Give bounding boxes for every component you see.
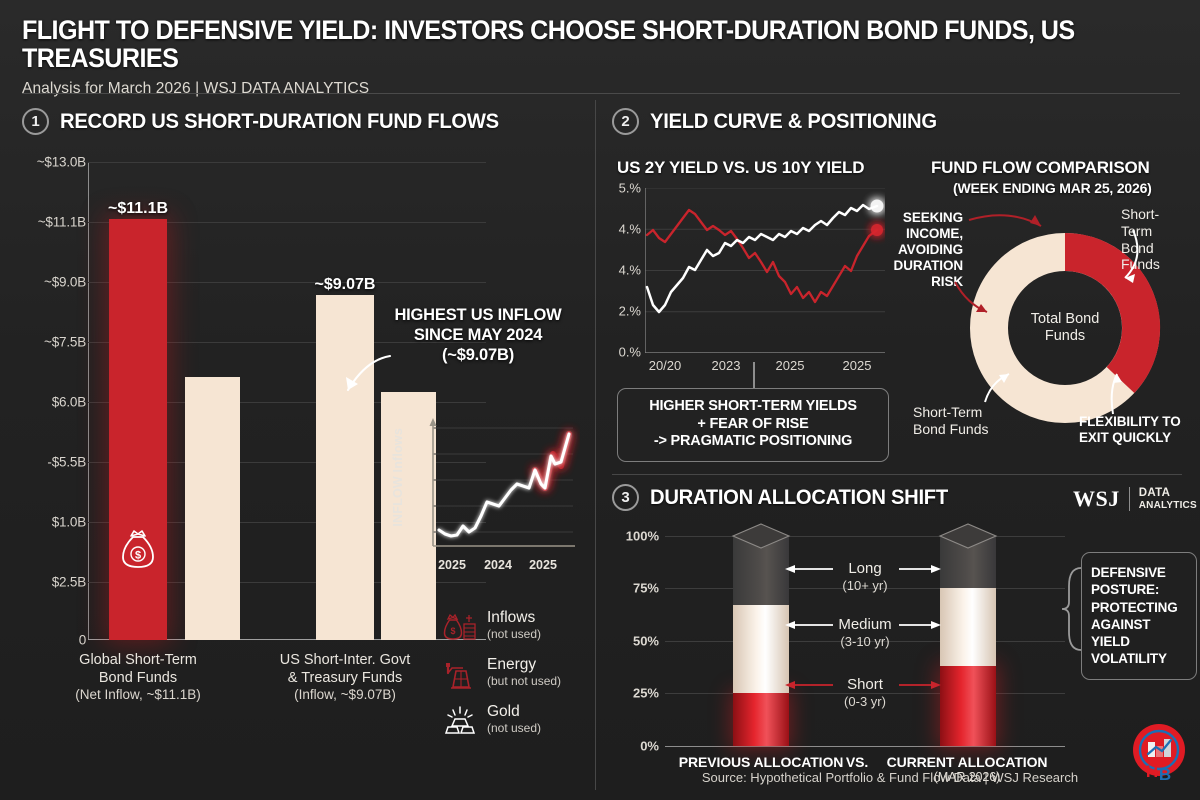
caption-vs: VS. xyxy=(846,754,868,770)
panel2-header: 2 YIELD CURVE & POSITIONING xyxy=(612,108,955,135)
legend-item-inflows: $ Inflows (not used) xyxy=(443,610,593,644)
inset-xtick: 2024 xyxy=(484,558,512,572)
yield-curve-svg xyxy=(645,188,885,353)
oil-pump-icon xyxy=(443,657,477,691)
page-subtitle: Analysis for March 2026 | WSJ DATA ANALY… xyxy=(22,80,1147,98)
legend-item-gold: Gold (not used) xyxy=(443,704,593,738)
header: FLIGHT TO DEFENSIVE YIELD: INVESTORS CHO… xyxy=(22,16,1182,98)
source-note: Source: Hypothetical Portfolio & Fund Fl… xyxy=(600,770,1180,785)
bar-value-label: ~$11.1B xyxy=(108,200,168,218)
legend-note: (not used) xyxy=(487,627,541,641)
page-title: FLIGHT TO DEFENSIVE YIELD: INVESTORS CHO… xyxy=(22,16,1101,72)
legend-text: Inflows (not used) xyxy=(487,610,541,641)
panel3-number-badge: 3 xyxy=(612,484,639,511)
yc-xtick: 2023 xyxy=(712,358,741,373)
money-bag-icon: $ xyxy=(443,610,477,644)
donut-label-seeking-income: SEEKINGINCOME,AVOIDINGDURATIONRISK xyxy=(879,210,963,290)
inset-xtick: 2025 xyxy=(438,558,466,572)
logo-divider xyxy=(1129,487,1130,511)
panel1-ytick: ~$13.0B xyxy=(10,155,86,170)
wsj-logo-panel3: WSJ DATA ANALYTICS xyxy=(1073,486,1197,512)
legend-item-energy: Energy (but not used) xyxy=(443,657,593,691)
legend-label: Gold xyxy=(487,704,541,720)
panel2-title: YIELD CURVE & POSITIONING xyxy=(650,109,937,134)
donut-title: FUND FLOW COMPARISON xyxy=(931,158,1150,178)
svg-text:H: H xyxy=(1146,762,1158,781)
panel1-title: RECORD US SHORT-DURATION FUND FLOWS xyxy=(60,109,499,134)
category-label-global: Global Short-Term Bond Funds (Net Inflow… xyxy=(43,652,233,704)
allocation-plot-area: Long (10+ yr) Medium (3-10 yr) Short (0-… xyxy=(665,536,1065,746)
panel1-ytick: 0 xyxy=(10,633,86,648)
legend-text: Energy (but not used) xyxy=(487,657,561,688)
panel2-callout-box: HIGHER SHORT-TERM YIELDS + FEAR OF RISE … xyxy=(617,388,889,462)
svg-text:$: $ xyxy=(135,550,141,562)
wsj-wordmark: WSJ xyxy=(1073,486,1120,512)
gold-bars-icon xyxy=(443,704,477,738)
panel1-ytick: $1.0B xyxy=(10,515,86,530)
al-ytick: 50% xyxy=(611,634,659,649)
bar-global-short-term-primary xyxy=(109,219,167,640)
donut-label-short-term-right: Short-Term Bond Funds xyxy=(1121,206,1187,273)
column-top-face-previous xyxy=(723,523,799,549)
bar-us-treasury-primary xyxy=(316,295,374,640)
svg-text:B: B xyxy=(1159,765,1171,784)
segment-medium-current xyxy=(940,588,996,666)
brace-icon xyxy=(1061,566,1085,652)
yield-chart-title: US 2Y YIELD vs. US 10Y YIELD xyxy=(617,158,864,178)
al-ytick: 25% xyxy=(611,686,659,701)
yc-xtick: 20/20 xyxy=(649,358,682,373)
segment-short-previous xyxy=(733,693,789,746)
header-divider xyxy=(22,93,1180,94)
legend-note: (but not used) xyxy=(487,674,561,688)
yc-ytick: 4.% xyxy=(601,222,641,237)
panel1-ytick: -$5.5B xyxy=(10,455,86,470)
panel1-header: 1 RECORD US SHORT-DURATION FUND FLOWS xyxy=(22,108,527,135)
gridline xyxy=(88,162,486,163)
panel3-header: 3 DURATION ALLOCATION SHIFT xyxy=(612,484,967,511)
band-label-short: Short (0-3 yr) xyxy=(844,676,886,709)
bar-value-label: ~$9.07B xyxy=(315,276,376,294)
yc-ytick: 5.% xyxy=(601,181,641,196)
inset-sparkline-svg xyxy=(395,410,580,570)
yc-xtick: 2025 xyxy=(843,358,872,373)
wsj-logo-sub: DATA ANALYTICS xyxy=(1139,487,1197,511)
callout-stem xyxy=(753,362,755,389)
segment-medium-previous xyxy=(733,605,789,693)
panel1-ytick: ~$11.1B xyxy=(10,215,86,230)
defensive-posture-box: DEFENSIVE POSTURE: PROTECTING AGAINST YI… xyxy=(1081,552,1197,680)
band-label-medium: Medium (3-10 yr) xyxy=(838,616,891,649)
inset-y-axis-label: INFLOW Inflows xyxy=(391,428,405,527)
caption-previous-allocation: PREVIOUS ALLOCATION xyxy=(679,754,844,770)
yc-ytick: 2.% xyxy=(601,304,641,319)
panel2-number-badge: 2 xyxy=(612,108,639,135)
panel3-title: DURATION ALLOCATION SHIFT xyxy=(650,485,948,510)
panel1-number-badge: 1 xyxy=(22,108,49,135)
annotation-arrow-icon xyxy=(332,350,394,402)
legend-text: Gold (not used) xyxy=(487,704,541,735)
inset-sparkline-chart: INFLOW Inflows xyxy=(395,410,580,570)
column-current-allocation xyxy=(940,536,996,746)
money-bag-icon: $ xyxy=(120,528,156,570)
panel1-ytick: $6.0B xyxy=(10,395,86,410)
band-label-long: Long (10+ yr) xyxy=(842,560,887,593)
legend-label: Inflows xyxy=(487,610,541,626)
panel-fund-flows: 1 RECORD US SHORT-DURATION FUND FLOWS ~$… xyxy=(0,100,595,790)
donut-label-short-term-left: Short-Term Bond Funds xyxy=(913,404,989,438)
yc-xtick: 2025 xyxy=(776,358,805,373)
panel-duration-allocation: 3 DURATION ALLOCATION SHIFT WSJ DATA ANA… xyxy=(595,474,1200,790)
panel1-ytick: ~$9.0B xyxy=(10,275,86,290)
x-axis-line xyxy=(665,746,1065,747)
panel1-ytick: ~$7.5B xyxy=(10,335,86,350)
svg-text:$: $ xyxy=(450,626,455,636)
inset-xtick: 2025 xyxy=(529,558,557,572)
column-top-face-current xyxy=(930,523,1006,549)
legend-label: Energy xyxy=(487,657,561,673)
yc-ytick: 4.% xyxy=(601,263,641,278)
segment-short-current xyxy=(940,666,996,746)
hb-watermark-badge: H B xyxy=(1128,722,1190,784)
panel-yield-curve: 2 YIELD CURVE & POSITIONING US 2Y YIELD … xyxy=(595,100,1200,474)
al-ytick: 100% xyxy=(611,529,659,544)
bar-global-short-term-secondary xyxy=(185,377,240,640)
column-previous-allocation xyxy=(733,536,789,746)
panel1-annotation: HIGHEST US INFLOW SINCE MAY 2024 (~$9.07… xyxy=(372,306,584,365)
al-ytick: 75% xyxy=(611,581,659,596)
legend-note: (not used) xyxy=(487,721,541,735)
donut-center-label: Total Bond Funds xyxy=(1010,311,1120,346)
donut-chart-wrap: Total Bond Funds SEEKINGINCOME,AVOIDINGD… xyxy=(917,178,1187,468)
panel1-ytick: $2.5B xyxy=(10,575,86,590)
al-ytick: 0% xyxy=(611,739,659,754)
category-label-us-treasury: US Short-Inter. Govt & Treasury Funds (I… xyxy=(250,652,440,704)
infographic-root: FLIGHT TO DEFENSIVE YIELD: INVESTORS CHO… xyxy=(0,0,1200,800)
panel1-legend: $ Inflows (not used) xyxy=(443,610,593,751)
yc-ytick: 0.% xyxy=(601,345,641,360)
donut-label-flexibility: FLEXIBILITY TO EXIT QUICKLY xyxy=(1079,414,1181,446)
